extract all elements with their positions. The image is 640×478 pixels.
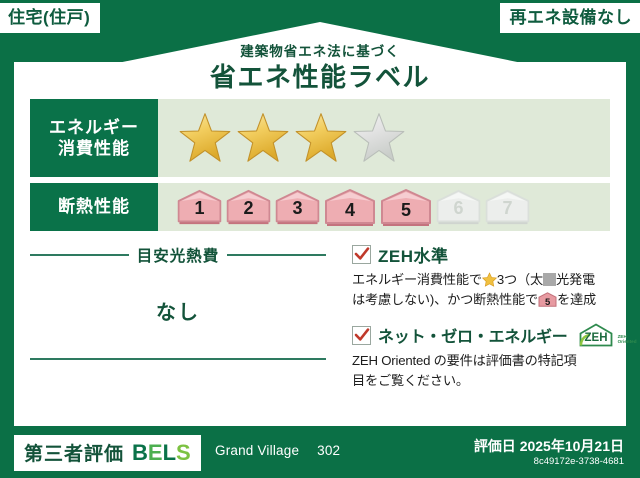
star-icon-filled — [178, 111, 232, 165]
energy-label-line2: 消費性能 — [58, 138, 130, 159]
energy-performance-label: エネルギー 消費性能 — [30, 99, 158, 177]
bels-letter-l: L — [163, 440, 176, 465]
energy-label-line1: エネルギー — [49, 117, 139, 138]
third-party-evaluation-label: 第三者評価 — [24, 439, 124, 466]
lower-section: 目安光熱費 なし — [30, 240, 610, 418]
check-icon — [354, 246, 370, 263]
rule-right — [227, 254, 326, 256]
insulation-label-line1: 断熱性能 — [58, 196, 130, 217]
zeh-standard-item: ZEH水準 エネルギー消費性能で3つ（太光発電は考慮しない)、かつ断熱性能で5を… — [352, 242, 637, 310]
check-icon — [354, 327, 370, 344]
insulation-performance-row: 断熱性能 1234567 — [30, 183, 610, 231]
insulation-level-4: 4 — [323, 187, 377, 228]
desc-text-2: 3つ（太 — [497, 272, 543, 287]
insulation-level-number: 3 — [292, 199, 302, 226]
label-panel: エネルギー 消費性能 断熱性能 1234567 目安光熱費 — [14, 62, 626, 426]
footer-bar: 第三者評価 BELS Grand Village 302 評価日 2025年10… — [0, 426, 640, 478]
bels-logo: BELS — [132, 440, 191, 466]
utility-cost-value: なし — [30, 296, 326, 325]
zeh-logo: ZEH ZEH Oriented — [576, 322, 637, 348]
insulation-level-6: 6 — [435, 188, 482, 226]
zeh-sub-line2: Oriented — [618, 339, 637, 344]
bels-badge: 第三者評価 BELS — [14, 435, 201, 471]
star-icon-filled — [236, 111, 290, 165]
zeh-house-logo-icon: ZEH — [576, 322, 616, 348]
net-zero-check-line: ネット・ゼロ・エネルギー ZEH ZEH Oriented — [352, 322, 637, 348]
insulation-level-5: 5 — [379, 187, 433, 228]
desc-text-3: 光発電 — [556, 272, 595, 287]
zeh-oriented-sublabel: ZEH Oriented — [618, 334, 637, 349]
desc-text-1: エネルギー消費性能で — [352, 272, 482, 287]
insulation-level-scale: 1234567 — [158, 183, 610, 231]
insulation-level-3: 3 — [274, 188, 321, 226]
evaluation-id: 8c49172e-3738-4681 — [534, 456, 624, 467]
insulation-level-1: 1 — [176, 188, 223, 226]
page-title: 省エネ性能ラベル — [0, 57, 640, 94]
star-rating — [158, 99, 610, 177]
mini-house-level-number: 5 — [538, 298, 557, 308]
bels-letter-b: B — [132, 440, 148, 465]
net-zero-desc-line2: 目をご覧ください。 — [352, 373, 469, 388]
zeh-section: ZEH水準 エネルギー消費性能で3つ（太光発電は考慮しない)、かつ断熱性能で5を… — [336, 240, 637, 418]
insulation-level-2: 2 — [225, 188, 272, 226]
building-name: Grand Village — [215, 443, 299, 458]
insulation-level-number: 7 — [502, 199, 512, 226]
star-icon-empty — [352, 111, 406, 165]
energy-performance-row: エネルギー 消費性能 — [30, 99, 610, 177]
svg-text:ZEH: ZEH — [584, 332, 607, 344]
net-zero-energy-item: ネット・ゼロ・エネルギー ZEH ZEH Oriented — [352, 322, 637, 391]
bels-letter-s: S — [176, 440, 191, 465]
checkbox-net-zero-energy[interactable] — [352, 326, 371, 345]
evaluation-date-value: 2025年10月21日 — [520, 438, 624, 454]
insulation-performance-label: 断熱性能 — [30, 183, 158, 231]
net-zero-title: ネット・ゼロ・エネルギー — [378, 323, 568, 347]
badge-renewable-energy: 再エネ設備なし — [500, 3, 640, 33]
building-info: Grand Village 302 — [215, 443, 340, 458]
utility-cost-title: 目安光熱費 — [137, 244, 220, 266]
insulation-level-number: 1 — [194, 199, 204, 226]
desc-text-5: を達成 — [557, 292, 596, 307]
star-icon-filled — [294, 111, 348, 165]
insulation-level-7: 7 — [484, 188, 531, 226]
utility-cost-heading: 目安光熱費 — [30, 244, 326, 266]
energy-label-root: 住宅(住戸) 再エネ設備なし 建築物省エネ法に基づく 省エネ性能ラベル エネルギ… — [0, 0, 640, 478]
net-zero-desc-line1: ZEH Oriented の要件は評価書の特記項 — [352, 353, 577, 368]
desc-text-4: は考慮しない)、かつ断熱性能で — [352, 292, 538, 307]
insulation-level-number: 5 — [401, 201, 411, 228]
redacted-block — [543, 273, 556, 286]
zeh-standard-title: ZEH水準 — [378, 242, 449, 267]
insulation-level-number: 4 — [345, 201, 355, 228]
evaluation-date: 評価日 2025年10月21日 — [474, 436, 624, 456]
insulation-level-number: 6 — [453, 199, 463, 226]
mini-house-level-icon: 5 — [538, 292, 557, 307]
net-zero-description: ZEH Oriented の要件は評価書の特記項 目をご覧ください。 — [352, 351, 637, 391]
bels-letter-e: E — [148, 440, 163, 465]
star-icon-inline — [482, 272, 497, 287]
badge-building-type: 住宅(住戸) — [0, 3, 100, 33]
insulation-level-number: 2 — [243, 199, 253, 226]
evaluation-date-label: 評価日 — [474, 438, 516, 454]
utility-cost-section: 目安光熱費 なし — [30, 240, 336, 418]
utility-cost-bottom-rule — [30, 358, 326, 360]
zeh-standard-check-line: ZEH水準 — [352, 242, 637, 267]
rule-left — [30, 254, 129, 256]
zeh-standard-description: エネルギー消費性能で3つ（太光発電は考慮しない)、かつ断熱性能で5を達成 — [352, 270, 637, 310]
unit-number: 302 — [317, 443, 340, 458]
checkbox-zeh-standard[interactable] — [352, 245, 371, 264]
